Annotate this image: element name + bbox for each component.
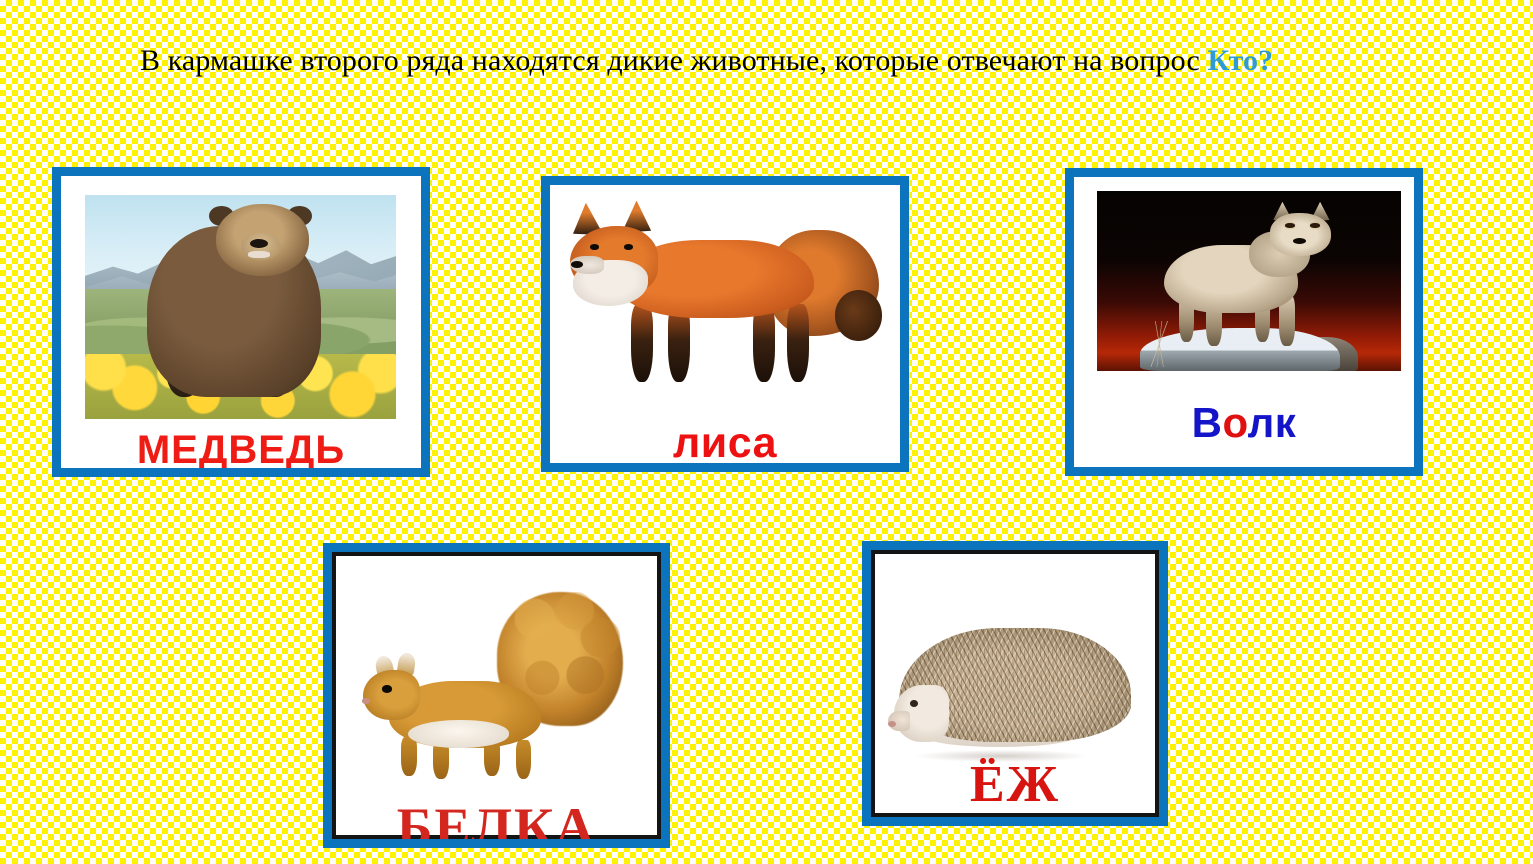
wolf-eye-right [1310,223,1320,227]
fox-leg-back-right [787,304,809,382]
fox-tail-tip [835,290,883,341]
squirrel-head [363,670,420,720]
fox-photo [556,189,896,419]
wolf-dry-grass [1121,321,1200,368]
squirrel-leg-back-right [516,740,532,779]
slide-canvas: В кармашке второго ряда находятся дикие … [0,0,1533,864]
animal-label-wolf-part-1: В [1192,399,1223,446]
squirrel-eye [382,685,392,692]
page-title: В кармашке второго ряда находятся дикие … [108,40,1438,81]
page-title-text: В кармашке второго ряда находятся дикие … [140,44,1207,77]
fox-eye-right [624,244,633,250]
squirrel-belly [408,720,509,748]
animal-label-wolf-part-3: лк [1248,399,1297,446]
squirrel-leg-front-left [401,737,417,776]
hedgehog-eye [910,700,918,707]
squirrel-nose [362,698,370,704]
animal-label-bear: МЕДВЕДЬ [61,428,421,473]
wolf-eye-left [1285,223,1295,227]
animal-card-wolf[interactable]: Волк [1065,168,1423,476]
bear-photo [85,195,396,419]
fox-eye-left [590,244,599,250]
fox-leg-front-left [631,304,653,382]
animal-card-hedgehog[interactable]: ЁЖ [862,541,1168,826]
wolf-photo [1097,191,1401,371]
page-title-highlight: Кто? [1207,44,1273,77]
animal-card-squirrel[interactable]: БЕЛКА [323,543,670,848]
animal-label-fox: лиса [550,419,900,468]
animal-label-wolf-part-2: о [1223,399,1248,446]
bear-mouth [248,251,270,258]
animal-label-squirrel: БЕЛКА [332,796,661,848]
animal-label-hedgehog: ЁЖ [871,755,1159,814]
animal-card-fox[interactable]: лиса [541,176,909,472]
animal-label-wolf: Волк [1074,399,1414,447]
animal-card-bear[interactable]: МЕДВЕДЬ [52,167,430,477]
wolf-head [1270,213,1331,256]
